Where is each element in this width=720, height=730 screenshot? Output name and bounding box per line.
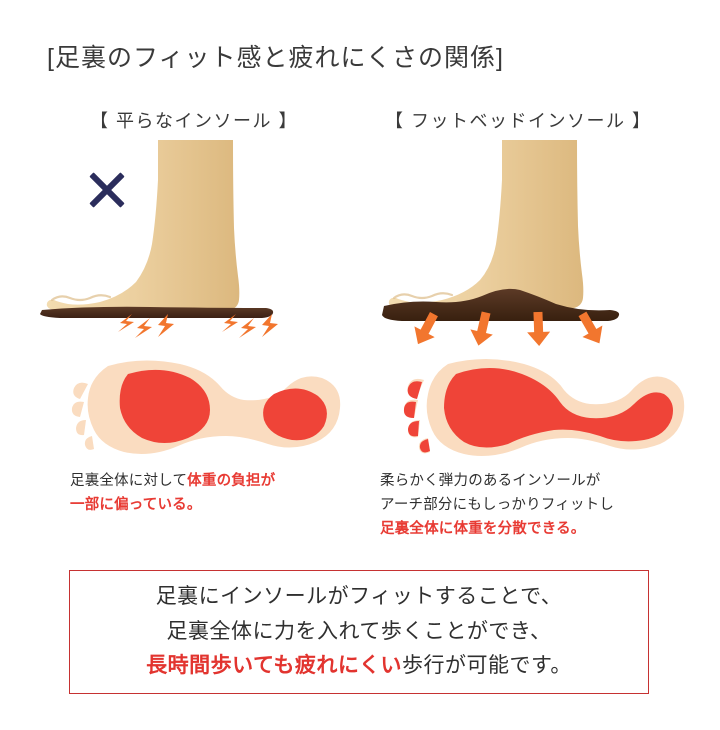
page-title: [足裏のフィット感と疲れにくさの関係] — [47, 38, 504, 74]
pressure-indicator-bolts — [30, 308, 350, 358]
caption-footbed-insole: 柔らかく弾力のあるインソールが アーチ部分にもしっかりフィットし 足裏全体に体重… — [380, 470, 680, 542]
summary-text: 歩行が可能です。 — [402, 654, 572, 677]
caption-part: アーチ部分にもしっかりフィットし — [380, 497, 614, 513]
caption-part-highlight: 足裏全体に体重を分散できる。 — [380, 521, 586, 537]
footprint-footbed-insole — [370, 352, 690, 462]
summary-line-2: 足裏全体に力を入れて歩くことができ、 — [167, 615, 552, 650]
column-heading-footbed: 【 フットベッドインソール 】 — [385, 107, 652, 133]
summary-line-3: 長時間歩いても疲れにくい歩行が可能です。 — [146, 649, 572, 684]
infographic-page: [足裏のフィット感と疲れにくさの関係] 【 平らなインソール 】 【 フットベッ… — [0, 0, 720, 730]
caption-part-highlight: 一部に偏っている。 — [70, 497, 202, 513]
summary-box: 足裏にインソールがフィットすることで、 足裏全体に力を入れて歩くことができ、 長… — [69, 570, 649, 694]
summary-line-1: 足裏にインソールがフィットすることで、 — [156, 580, 563, 615]
column-heading-flat: 【 平らなインソール 】 — [90, 107, 298, 133]
caption-part-highlight: 体重の負担が — [187, 473, 275, 489]
caption-flat-insole: 足裏全体に対して体重の負担が 一部に偏っている。 — [70, 470, 370, 518]
caption-part: 足裏全体に対して — [70, 473, 187, 489]
column-flat-insole: 足裏全体に対して体重の負担が 一部に偏っている。 — [30, 140, 350, 560]
summary-text-highlight: 長時間歩いても疲れにくい — [146, 654, 402, 677]
summary-text: 足裏全体に力を入れて歩くことができ、 — [167, 620, 552, 643]
pressure-indicator-arrows — [370, 308, 690, 358]
column-footbed-insole: 柔らかく弾力のあるインソールが アーチ部分にもしっかりフィットし 足裏全体に体重… — [370, 140, 690, 560]
summary-text: 足裏にインソールがフィットすることで、 — [156, 585, 563, 608]
caption-part: 柔らかく弾力のあるインソールが — [380, 473, 601, 489]
footprint-flat-insole — [30, 352, 350, 462]
